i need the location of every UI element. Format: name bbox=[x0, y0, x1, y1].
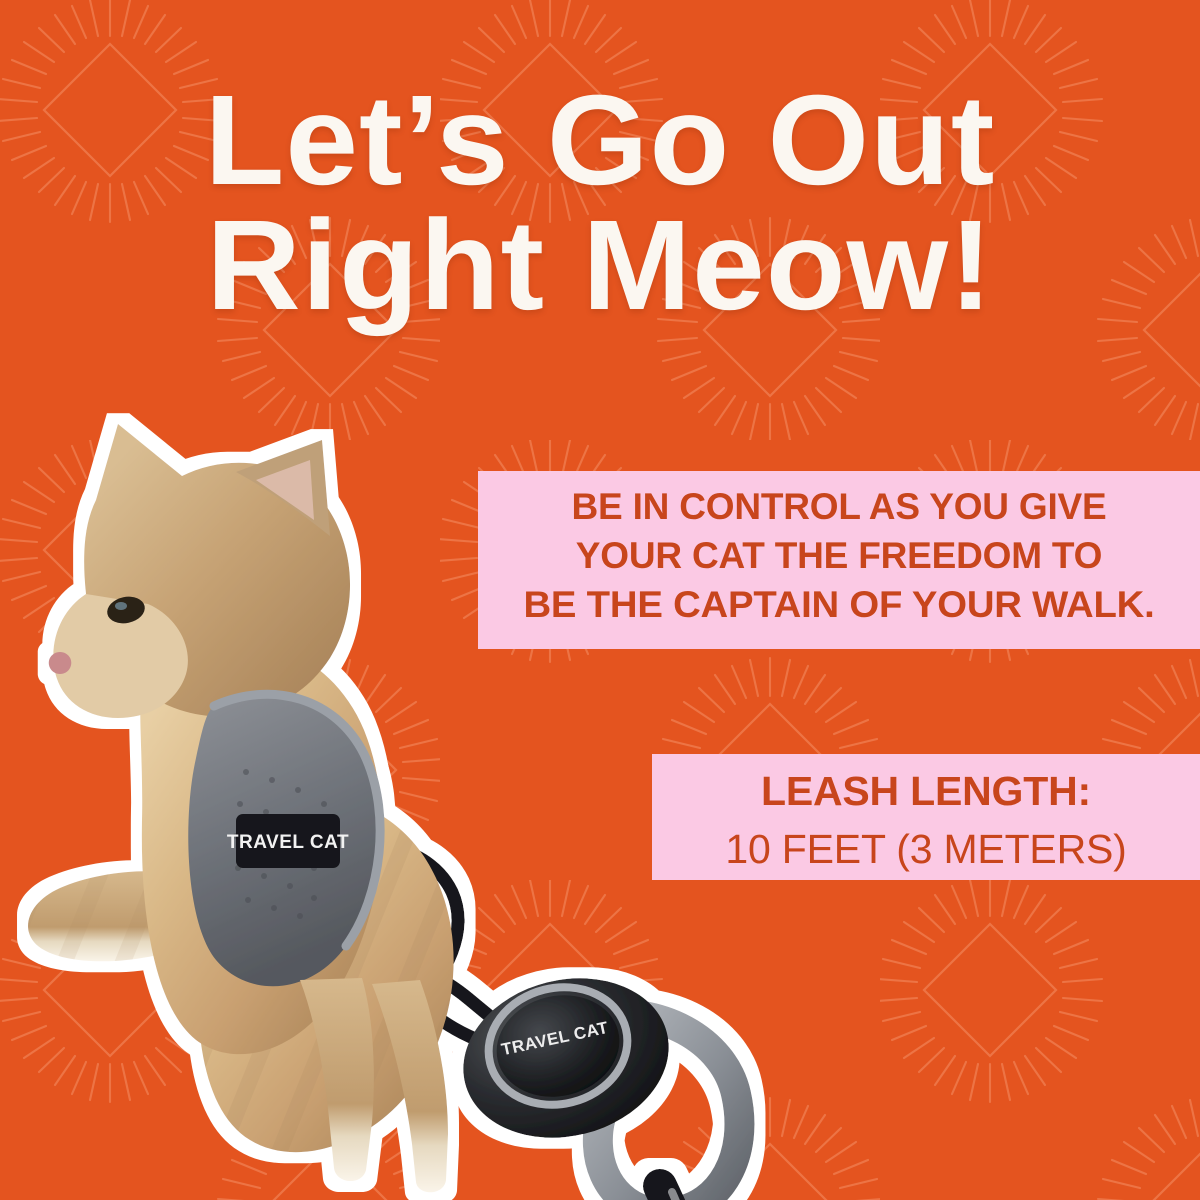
benefit-line-2: YOUR CAT THE FREEDOM TO bbox=[484, 532, 1194, 581]
benefit-line-3: BE THE CAPTAIN OF YOUR WALK. bbox=[472, 581, 1200, 630]
benefit-callout-panel: BE IN CONTROL AS YOU GIVE YOUR CAT THE F… bbox=[478, 471, 1200, 649]
leash-length-value: 10 FEET (3 METERS) bbox=[660, 820, 1192, 878]
headline-line-1: Let’s Go Out bbox=[0, 78, 1200, 203]
product-marketing-poster: Let’s Go Out Right Meow! bbox=[0, 0, 1200, 1200]
headline-line-2: Right Meow! bbox=[0, 203, 1200, 328]
benefit-line-1: BE IN CONTROL AS YOU GIVE bbox=[484, 483, 1194, 532]
leash-length-panel: LEASH LENGTH: 10 FEET (3 METERS) bbox=[652, 754, 1200, 880]
leash-length-label: LEASH LENGTH: bbox=[660, 762, 1192, 820]
page-title: Let’s Go Out Right Meow! bbox=[0, 78, 1200, 329]
